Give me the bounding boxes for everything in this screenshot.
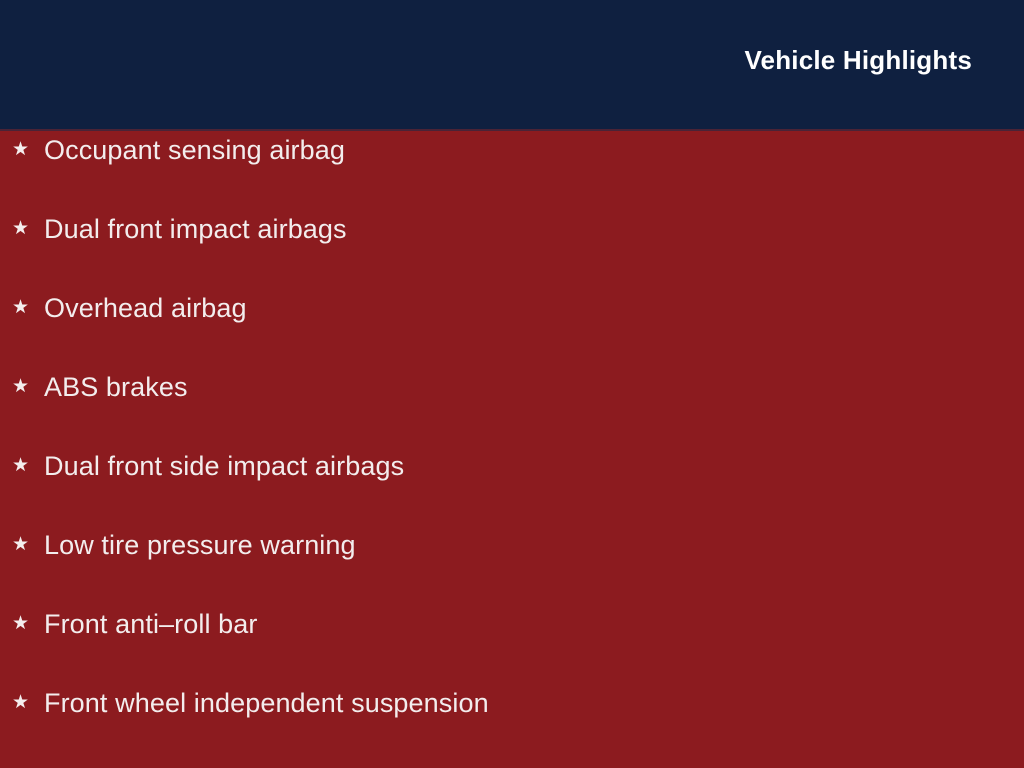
list-item: ★ Dual front impact airbags	[0, 216, 1024, 295]
list-item: ★ Front wheel independent suspension	[0, 690, 1024, 768]
list-item-label: Low tire pressure warning	[44, 532, 1024, 559]
list-item: ★ Low tire pressure warning	[0, 532, 1024, 611]
list-item-label: Front anti–roll bar	[44, 611, 1024, 638]
vehicle-highlights-list: ★ Occupant sensing airbag ★ Dual front i…	[0, 131, 1024, 768]
list-item: ★ ABS brakes	[0, 374, 1024, 453]
star-icon: ★	[12, 614, 44, 633]
list-item-label: Occupant sensing airbag	[44, 137, 1024, 164]
page-title: Vehicle Highlights	[744, 47, 972, 73]
slide: Vehicle Highlights ★ Occupant sensing ai…	[0, 0, 1024, 768]
list-item-label: ABS brakes	[44, 374, 1024, 401]
slide-body: ★ Occupant sensing airbag ★ Dual front i…	[0, 131, 1024, 768]
list-item-label: Overhead airbag	[44, 295, 1024, 322]
list-item-label: Front wheel independent suspension	[44, 690, 1024, 717]
slide-header: Vehicle Highlights	[0, 0, 1024, 131]
list-item: ★ Overhead airbag	[0, 295, 1024, 374]
list-item-label: Dual front impact airbags	[44, 216, 1024, 243]
star-icon: ★	[12, 693, 44, 712]
star-icon: ★	[12, 140, 44, 159]
star-icon: ★	[12, 298, 44, 317]
list-item: ★ Front anti–roll bar	[0, 611, 1024, 690]
star-icon: ★	[12, 456, 44, 475]
star-icon: ★	[12, 535, 44, 554]
star-icon: ★	[12, 377, 44, 396]
list-item-label: Dual front side impact airbags	[44, 453, 1024, 480]
star-icon: ★	[12, 219, 44, 238]
list-item: ★ Occupant sensing airbag	[0, 137, 1024, 216]
list-item: ★ Dual front side impact airbags	[0, 453, 1024, 532]
